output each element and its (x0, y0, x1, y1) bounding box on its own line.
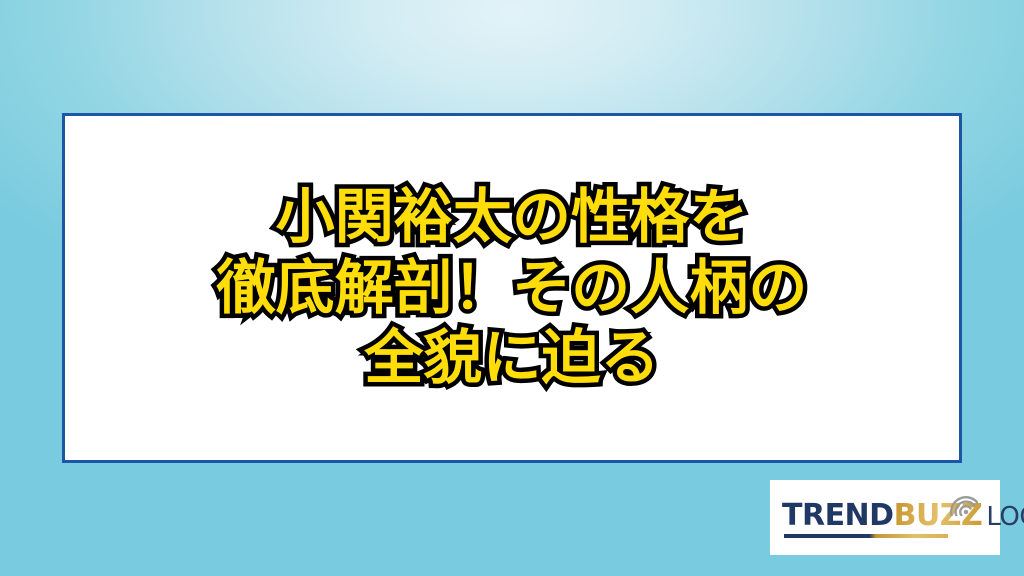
brand-word-log: LOG (986, 502, 1024, 532)
brand-logo-inner: TREND BUZZ LOG (782, 492, 988, 544)
brand-wordmark: TREND BUZZ LOG (782, 498, 1024, 533)
page-title: 小関裕太の性格を 徹底解剖！その人柄の 全貌に迫る (217, 182, 808, 394)
thumbnail-canvas: 小関裕太の性格を 徹底解剖！その人柄の 全貌に迫る TREND BUZZ LOG (0, 0, 1024, 576)
brand-underline-bar (784, 534, 948, 538)
title-card: 小関裕太の性格を 徹底解剖！その人柄の 全貌に迫る (62, 113, 962, 463)
headline-line-3: 全貌に迫る (217, 323, 808, 394)
brand-word-trend: TREND (782, 498, 894, 533)
headline-line-1: 小関裕太の性格を (217, 182, 808, 253)
headline-line-2: 徹底解剖！その人柄の (217, 253, 808, 324)
wifi-signal-icon (944, 486, 978, 516)
brand-logo: TREND BUZZ LOG (770, 480, 1000, 555)
